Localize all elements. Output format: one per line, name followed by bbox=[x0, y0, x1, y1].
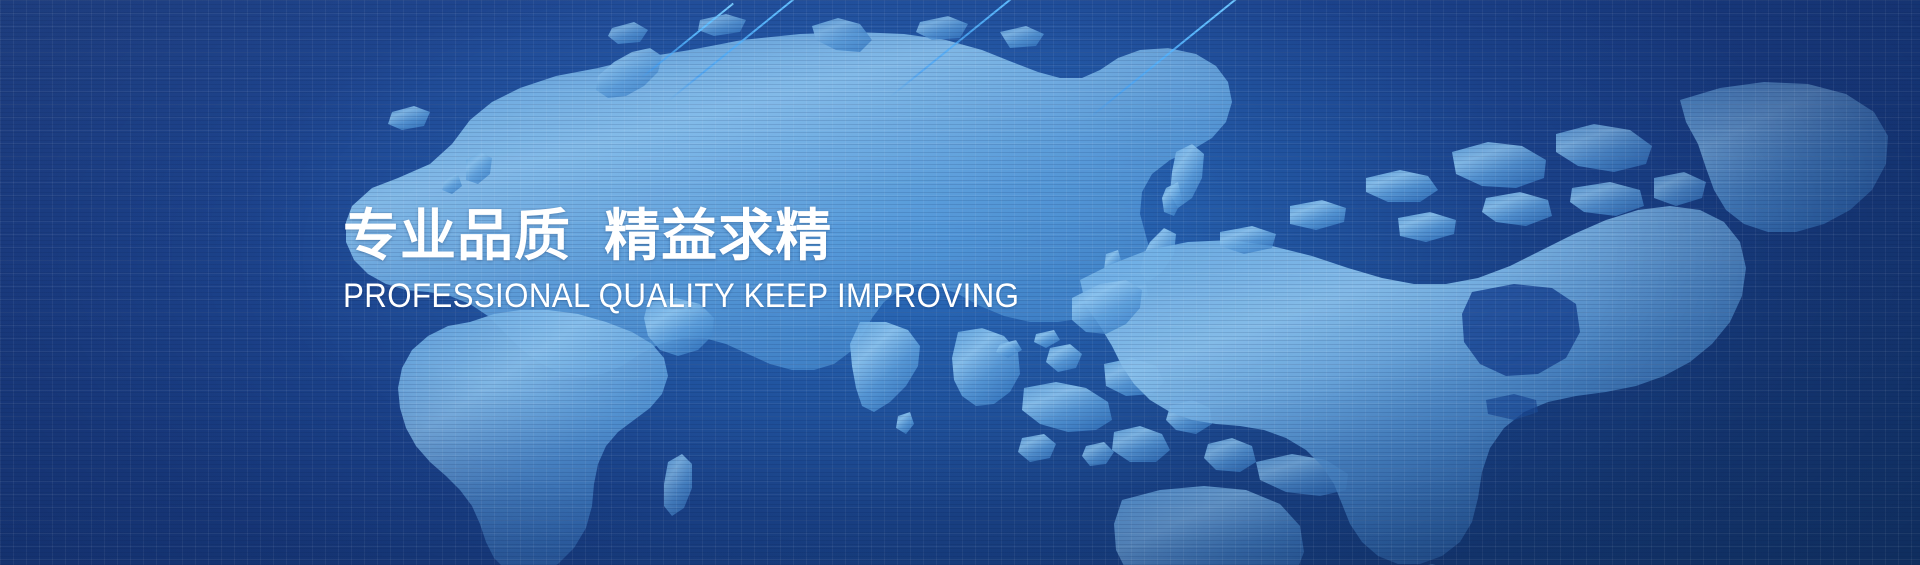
subheadline-english: PROFESSIONAL QUALITY KEEP IMPROVING bbox=[343, 272, 1171, 316]
slogan-text-block: 专业品质 精益求精 PROFESSIONAL QUALITY KEEP IMPR… bbox=[343, 200, 1243, 316]
headline-chinese: 专业品质 精益求精 bbox=[343, 200, 1243, 272]
company-slogan-banner: 专业品质 精益求精 PROFESSIONAL QUALITY KEEP IMPR… bbox=[0, 0, 1920, 565]
